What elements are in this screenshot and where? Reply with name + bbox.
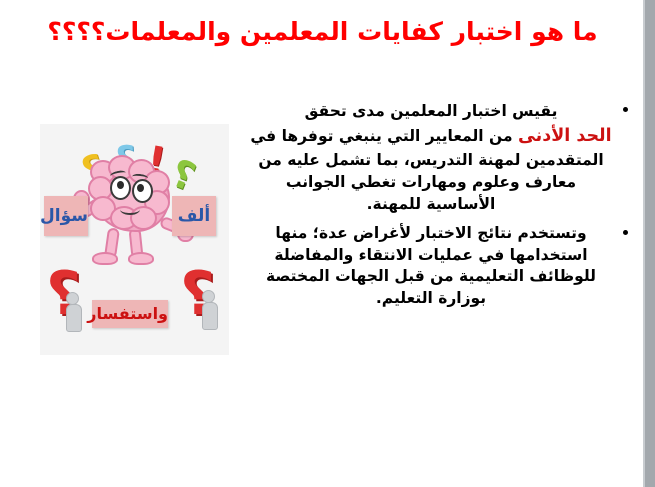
figure-person-right [202,290,218,330]
bullet-dot-icon [623,230,628,235]
figure-person-left [66,292,82,332]
brain-pupil-right [137,184,144,192]
bullet-item-2: وتستخدم نتائج الاختبار لأغراض عدة؛ منها … [250,223,612,310]
bullet-dot-icon [623,107,628,112]
image-label-istifsar: واستفسار [92,300,168,328]
bullet-2-paragraph: وتستخدم نتائج الاختبار لأغراض عدة؛ منها … [250,223,612,310]
brain-foot-left [92,252,118,265]
slide-right-scrollbar[interactable] [645,0,655,487]
brain-mouth [120,204,140,215]
person-body [202,302,218,330]
image-canvas: ؟ ؟ ! ؟ ؟ ؟ [40,124,229,355]
slide-body-content: يقيس اختبار المعلمين مدى تحقق الحد الأدن… [250,100,612,312]
page-title: ما هو اختبار كفايات المعلمين والمعلمات؟؟… [0,16,645,47]
question-mark-green-icon: ؟ [166,153,201,196]
brain-pupil-left [117,181,124,189]
bullet-item-1: يقيس اختبار المعلمين مدى تحقق الحد الأدن… [250,100,612,215]
brain-foot-right [128,252,154,265]
bullet-1-paragraph: يقيس اختبار المعلمين مدى تحقق الحد الأدن… [250,100,612,215]
person-body [66,304,82,332]
presentation-slide: ما هو اختبار كفايات المعلمين والمعلمات؟؟… [0,0,655,487]
image-label-alef: ألف [172,196,216,236]
brain-question-image: ؟ ؟ ! ؟ ؟ ؟ [40,124,229,355]
bullet-1-highlight: الحد الأدنى [518,126,612,146]
image-label-sual: سؤال [44,196,88,236]
bullet-1-lead: يقيس اختبار المعلمين مدى تحقق [250,100,612,122]
